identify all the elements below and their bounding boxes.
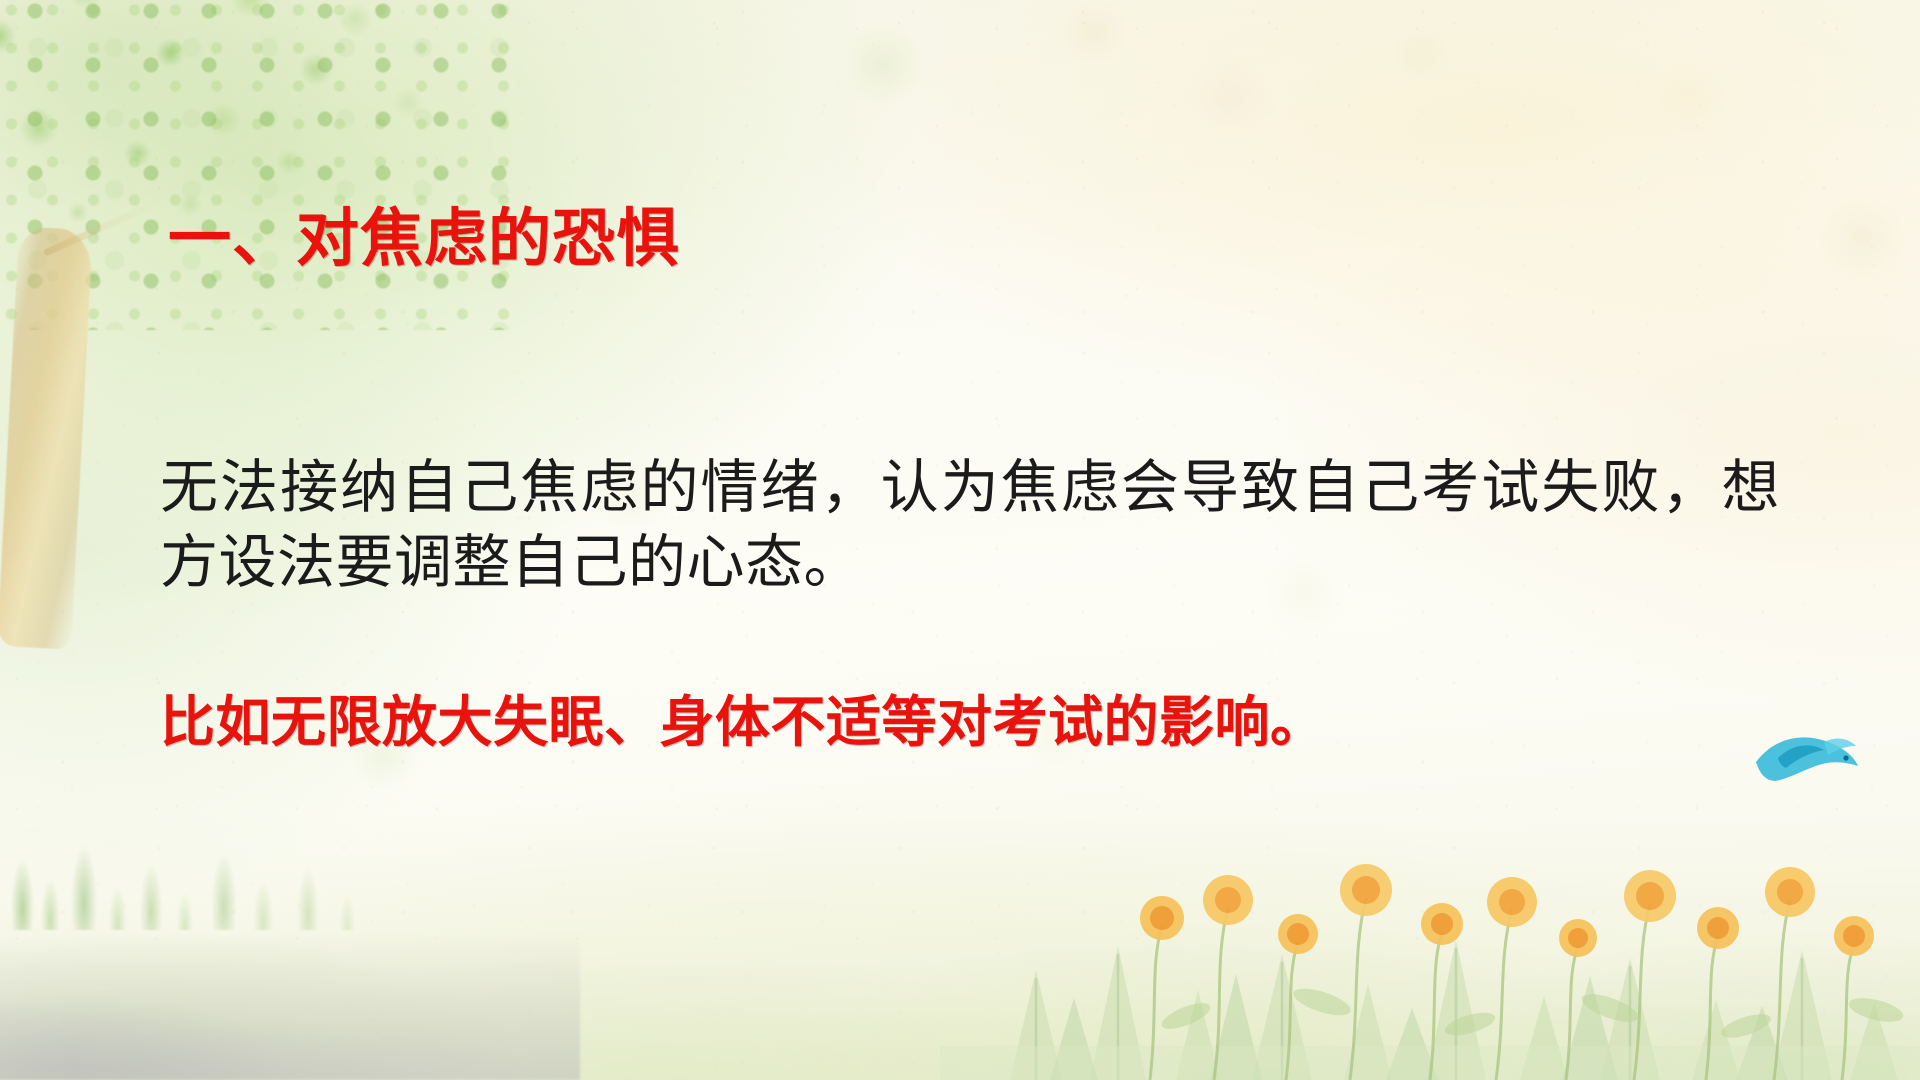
body-paragraph: 无法接纳自己焦虑的情绪，认为焦虑会导致自己考试失败，想方设法要调整自己的心态。 (160, 450, 1780, 601)
slide-content: 一、对焦虑的恐惧 无法接纳自己焦虑的情绪，认为焦虑会导致自己考试失败，想方设法要… (0, 0, 1920, 1080)
slide-title: 一、对焦虑的恐惧 (168, 204, 680, 275)
emphasis-line: 比如无限放大失眠、身体不适等对考试的影响。 (160, 688, 1820, 757)
presentation-slide: 一、对焦虑的恐惧 无法接纳自己焦虑的情绪，认为焦虑会导致自己考试失败，想方设法要… (0, 0, 1920, 1080)
